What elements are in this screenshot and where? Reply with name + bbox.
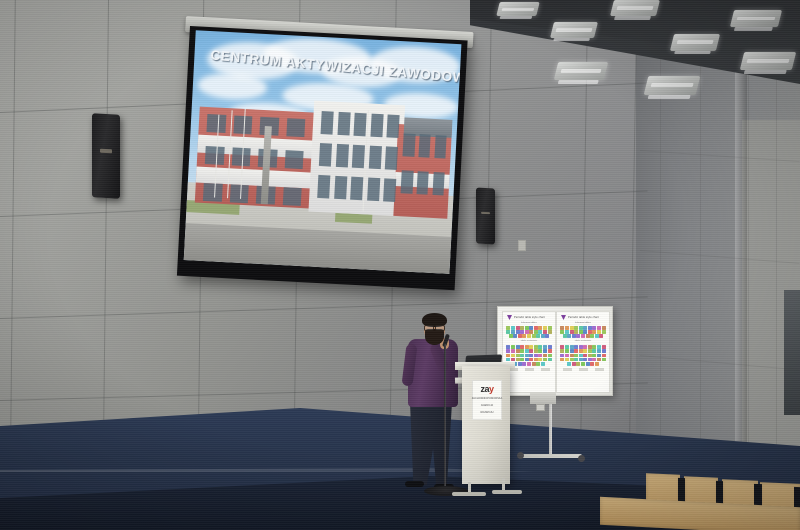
poster-cell: [513, 334, 517, 338]
poster-cell: [574, 349, 578, 353]
slide-window: [416, 171, 429, 195]
poster-cell: [586, 334, 590, 338]
poster-cell: [529, 349, 533, 353]
poster-cell: [597, 358, 601, 362]
poster-cell: [595, 334, 599, 338]
poster-cell: [525, 349, 529, 353]
poster-cell: [543, 326, 547, 330]
poster-cell: [602, 345, 606, 349]
poster-cell: [592, 345, 596, 349]
poster-cell: [602, 358, 606, 362]
slide-window: [434, 135, 447, 159]
poster-cell: [520, 354, 524, 358]
poster-cell: [572, 362, 576, 366]
ceiling-light-fixture: [730, 10, 782, 27]
poster-cell: [511, 330, 515, 334]
poster-cell: [548, 326, 552, 330]
podium-logo-accent: y: [489, 384, 494, 394]
poster-cell: [529, 330, 533, 334]
slide-window: [354, 112, 367, 136]
poster-cell: [534, 349, 538, 353]
poster-left: Periodic table style chart kolorowa tabl…: [502, 311, 556, 393]
poster-cell: [567, 362, 571, 366]
poster-cell: [506, 326, 510, 330]
poster-cell: [560, 354, 564, 358]
poster-cell: [579, 345, 583, 349]
podium-logo-sign: zay ZACHODNIOPOMORSKA AGENCJA ROZWOJU: [472, 380, 502, 420]
slide-window: [400, 170, 413, 194]
poster-cell: [581, 334, 585, 338]
poster-cell: [574, 326, 578, 330]
poster-cell: [565, 354, 569, 358]
poster-cell: [576, 334, 580, 338]
podium: zay ZACHODNIOPOMORSKA AGENCJA ROZWOJU: [462, 366, 510, 484]
ceiling-light-fixture: [644, 76, 701, 95]
slide-window: [367, 178, 380, 202]
poster-right: Periodic table style chart kolorowa tabl…: [556, 311, 610, 393]
presenter-glasses: [424, 324, 445, 329]
ceiling-light-fixture: [496, 2, 539, 16]
poster-cell: [574, 358, 578, 362]
poster-right-grid-2: [557, 345, 609, 365]
poster-cell: [560, 345, 564, 349]
poster-cell: [525, 326, 529, 330]
poster-cell: [506, 358, 510, 362]
slide-window: [229, 184, 249, 203]
poster-cell: [570, 345, 574, 349]
poster-left-note: tabela zestawienie: [505, 340, 553, 343]
poster-cell: [586, 362, 590, 366]
poster-cell: [579, 349, 583, 353]
projection-screen: CENTRUM AKTYWIZACJI ZAWODOWEJ: [177, 26, 468, 290]
poster-cell: [520, 358, 524, 362]
poster-cell: [548, 354, 552, 358]
whiteboard-wheel-right: [578, 455, 585, 462]
poster-cell: [588, 349, 592, 353]
poster-cell: [565, 349, 569, 353]
slide-window: [334, 176, 347, 200]
poster-cell: [597, 345, 601, 349]
poster-cell: [560, 358, 564, 362]
poster-cell: [543, 358, 547, 362]
slide-window: [284, 150, 304, 169]
slide-window: [350, 177, 363, 201]
poster-cell: [534, 345, 538, 349]
poster-right-footer: [557, 366, 609, 373]
poster-cell: [520, 345, 524, 349]
poster-cell: [516, 326, 520, 330]
poster-cell: [541, 334, 545, 338]
poster-cell: [548, 330, 552, 334]
slide-window: [387, 114, 400, 138]
poster-cell: [543, 330, 547, 334]
poster-cell: [570, 354, 574, 358]
poster-cell: [509, 334, 513, 338]
slide-window: [203, 183, 223, 202]
podium-logo-text: zay: [480, 385, 493, 394]
poster-left-grid: [503, 326, 555, 338]
speaker-badge-right: [481, 211, 489, 214]
poster-cell: [543, 345, 547, 349]
poster-cell: [583, 345, 587, 349]
slide-window: [369, 145, 382, 169]
poster-cell: [511, 349, 515, 353]
poster-cell: [534, 354, 538, 358]
poster-cell: [529, 345, 533, 349]
slide-window: [319, 143, 332, 167]
poster-cell: [597, 326, 601, 330]
poster-cell: [511, 354, 515, 358]
poster-cell: [602, 326, 606, 330]
wall-fitting: [518, 240, 526, 251]
poster-cell: [516, 358, 520, 362]
podium-logo-sub-3: ROZWOJU: [480, 411, 493, 415]
poster-left-subheading: kolorowa tablica: [503, 322, 555, 324]
poster-cell: [583, 354, 587, 358]
poster-cell: [576, 362, 580, 366]
poster-cell: [516, 354, 520, 358]
poster-cell: [538, 330, 542, 334]
poster-cell: [548, 345, 552, 349]
poster-logo-icon-2: [561, 315, 566, 320]
poster-cell: [543, 354, 547, 358]
wall-speaker-left: [92, 113, 120, 198]
whiteboard-foot: [520, 454, 582, 458]
poster-cell: [579, 330, 583, 334]
poster-cell: [516, 330, 520, 334]
poster-cell: [525, 330, 529, 334]
projected-slide: CENTRUM AKTYWIZACJI ZAWODOWEJ: [184, 30, 462, 274]
slide-window: [286, 118, 306, 137]
poster-cell: [583, 349, 587, 353]
poster-cell: [560, 326, 564, 330]
poster-cell: [583, 330, 587, 334]
slide-window: [318, 175, 331, 199]
wall-socket: [536, 404, 545, 411]
poster-cell: [522, 334, 526, 338]
poster-cell: [534, 358, 538, 362]
poster-cell: [599, 334, 603, 338]
poster-cell: [538, 349, 542, 353]
slide-window: [432, 172, 445, 196]
poster-cell: [588, 354, 592, 358]
poster-cell: [574, 354, 578, 358]
poster-cell: [588, 330, 592, 334]
poster-cell: [525, 354, 529, 358]
poster-cell: [574, 345, 578, 349]
poster-cell: [545, 334, 549, 338]
poster-cell: [570, 330, 574, 334]
poster-cell: [592, 330, 596, 334]
poster-cell: [560, 349, 564, 353]
poster-cell: [579, 326, 583, 330]
ceiling-light-fixture: [550, 22, 598, 38]
poster-cell: [516, 349, 520, 353]
ceiling-light-fixture: [670, 34, 720, 51]
slide-window: [337, 111, 350, 135]
poster-cell: [536, 334, 540, 338]
poster-cell: [570, 358, 574, 362]
poster-right-note: tabela zestawienie: [559, 340, 607, 343]
poster-cell: [588, 358, 592, 362]
poster-cell: [525, 345, 529, 349]
poster-cell: [548, 349, 552, 353]
poster-cell: [520, 330, 524, 334]
podium-logo-sub-2: AGENCJA: [481, 404, 493, 408]
poster-cell: [602, 354, 606, 358]
poster-cell: [590, 334, 594, 338]
poster-cell: [506, 330, 510, 334]
poster-cell: [565, 358, 569, 362]
poster-cell: [590, 362, 594, 366]
poster-cell: [592, 354, 596, 358]
poster-cell: [529, 358, 533, 362]
poster-cell: [518, 334, 522, 338]
wall-speaker-right: [476, 188, 495, 245]
poster-cell: [511, 358, 515, 362]
poster-cell: [579, 358, 583, 362]
poster-cell: [570, 349, 574, 353]
poster-logo-icon: [507, 315, 512, 320]
poster-cell: [538, 358, 542, 362]
poster-cell: [583, 326, 587, 330]
poster-cell: [506, 345, 510, 349]
presenter-shoe-left: [405, 481, 424, 487]
poster-cell: [520, 326, 524, 330]
poster-right-header: Periodic table style chart: [557, 312, 609, 321]
poster-cell: [534, 326, 538, 330]
ceiling-light-fixture: [610, 0, 660, 16]
poster-cell: [572, 334, 576, 338]
poster-cell: [541, 362, 545, 366]
slide-window: [321, 111, 334, 135]
poster-cell: [560, 330, 564, 334]
photo-scene: CENTRUM AKTYWIZACJI ZAWODOWEJ Periodic t…: [0, 0, 800, 530]
poster-cell: [567, 334, 571, 338]
poster-cell: [538, 326, 542, 330]
slide-window: [402, 133, 415, 157]
poster-right-subheading: kolorowa tablica: [557, 322, 609, 324]
poster-cell: [532, 362, 536, 366]
poster-cell: [529, 354, 533, 358]
poster-cell: [518, 362, 522, 366]
podium-foot-left: [452, 492, 486, 496]
poster-cell: [597, 354, 601, 358]
slide-window: [370, 113, 383, 137]
poster-cell: [538, 354, 542, 358]
poster-cell: [520, 349, 524, 353]
poster-cell: [506, 349, 510, 353]
poster-cell: [574, 330, 578, 334]
presenter-beard: [425, 329, 444, 345]
poster-cell: [565, 330, 569, 334]
microphone-stand: [444, 344, 446, 492]
poster-cell: [527, 362, 531, 366]
poster-left-header: Periodic table style chart: [503, 312, 555, 321]
poster-cell: [536, 362, 540, 366]
poster-cell: [565, 326, 569, 330]
slide-window: [352, 145, 365, 169]
poster-cell: [516, 345, 520, 349]
podium-logo-sub-1: ZACHODNIOPOMORSKA: [472, 397, 503, 401]
poster-cell: [602, 349, 606, 353]
speaker-badge-left: [100, 149, 112, 154]
poster-cell: [581, 362, 585, 366]
slide-window: [282, 187, 302, 206]
poster-cell: [579, 354, 583, 358]
poster-left-heading: Periodic table style chart: [514, 316, 545, 319]
poster-cell: [595, 362, 599, 366]
poster-cell: [597, 349, 601, 353]
slide-window: [385, 146, 398, 170]
poster-cell: [592, 326, 596, 330]
poster-cell: [538, 345, 542, 349]
door-reveal: [784, 290, 800, 415]
poster-cell: [511, 326, 515, 330]
podium-logo-base: za: [480, 384, 489, 394]
poster-right-heading: Periodic table style chart: [568, 316, 599, 319]
poster-cell: [525, 358, 529, 362]
slide-window: [418, 134, 431, 158]
poster-cell: [506, 354, 510, 358]
podium-foot-right: [492, 490, 522, 494]
poster-cell: [534, 330, 538, 334]
poster-cell: [548, 358, 552, 362]
slide-window: [336, 144, 349, 168]
poster-cell: [543, 349, 547, 353]
poster-cell: [529, 326, 533, 330]
poster-cell: [527, 334, 531, 338]
poster-cell: [522, 362, 526, 366]
poster-cell: [583, 358, 587, 362]
slide-window: [383, 178, 396, 202]
poster-right-grid: [557, 326, 609, 338]
poster-cell: [563, 334, 567, 338]
poster-cell: [570, 326, 574, 330]
poster-cell: [588, 326, 592, 330]
poster-cell: [592, 358, 596, 362]
poster-cell: [602, 330, 606, 334]
ceiling-light-fixture: [740, 52, 796, 70]
ceiling-light-fixture: [554, 62, 608, 80]
poster-cell: [597, 330, 601, 334]
poster-cell: [565, 345, 569, 349]
whiteboard: Periodic table style chart kolorowa tabl…: [497, 306, 613, 396]
floor-equipment-box: [530, 392, 556, 404]
poster-cell: [511, 345, 515, 349]
poster-cell: [592, 349, 596, 353]
poster-cell: [588, 345, 592, 349]
poster-cell: [532, 334, 536, 338]
whiteboard-wheel-left: [517, 452, 524, 459]
